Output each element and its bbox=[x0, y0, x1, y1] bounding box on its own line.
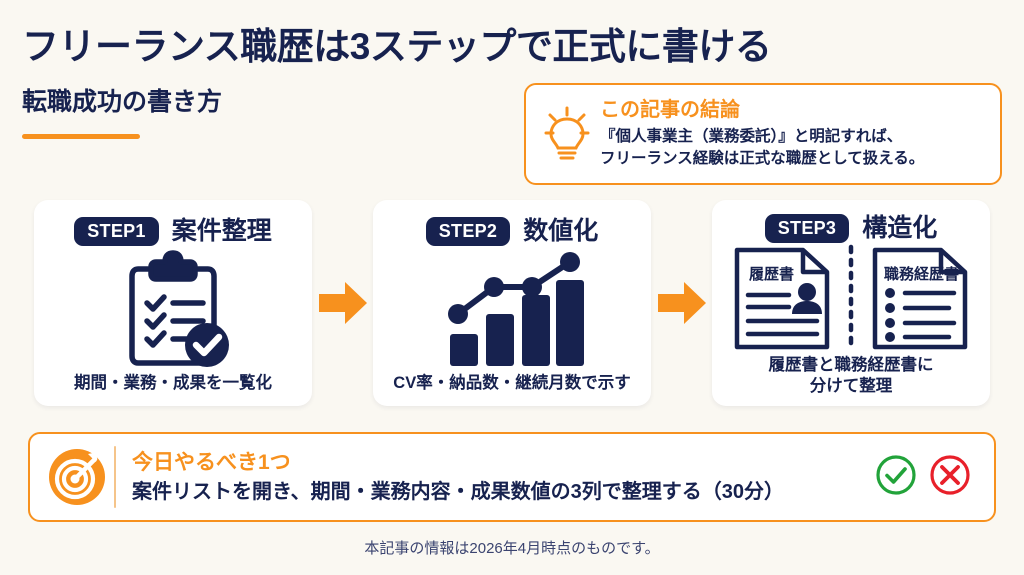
bar-chart-growth-icon bbox=[383, 248, 641, 373]
steps-row: STEP1 案件整理 bbox=[34, 200, 990, 406]
step-card-1: STEP1 案件整理 bbox=[34, 200, 312, 406]
resume-doc: 履歴書 bbox=[737, 250, 827, 347]
check-circle-icon bbox=[874, 453, 918, 502]
conclusion-text-block: この記事の結論 『個人事業主（業務委託）』と明記すれば、 フリーランス経験は正式… bbox=[596, 98, 990, 170]
step-title-3: 構造化 bbox=[862, 216, 937, 241]
step-card-3: STEP3 構造化 履歴書 bbox=[712, 200, 990, 406]
cta-bar: 今日やるべき1つ 案件リストを開き、期間・業務内容・成果数値の3列で整理する（3… bbox=[28, 432, 996, 522]
page-title: フリーランス職歴は3ステップで正式に書ける bbox=[22, 16, 771, 70]
footer-note: 本記事の情報は2026年4月時点のものです。 bbox=[0, 537, 1024, 558]
step-badge-2: STEP2 bbox=[426, 217, 511, 246]
cross-circle-icon bbox=[928, 453, 972, 502]
two-documents-icon: 履歴書 bbox=[722, 243, 980, 355]
lightbulb-icon bbox=[538, 104, 596, 164]
conclusion-box: この記事の結論 『個人事業主（業務委託）』と明記すれば、 フリーランス経験は正式… bbox=[524, 83, 1002, 185]
step-badge-3: STEP3 bbox=[765, 214, 850, 243]
step-card-2: STEP2 数値化 bbox=[373, 200, 651, 406]
cta-body: 案件リストを開き、期間・業務内容・成果数値の3列で整理する（30分） bbox=[132, 480, 874, 505]
target-dart-icon bbox=[46, 448, 108, 506]
cta-divider bbox=[114, 446, 116, 508]
conclusion-line-1: 『個人事業主（業務委託）』と明記すれば、 bbox=[600, 126, 990, 148]
cta-marks bbox=[874, 453, 976, 502]
page-subtitle: 転職成功の書き方 bbox=[22, 82, 222, 118]
work-history-doc: 職務経歴書 bbox=[875, 250, 965, 347]
infographic-page: フリーランス職歴は3ステップで正式に書ける 転職成功の書き方 この記事の結論 『… bbox=[0, 0, 1024, 575]
step-title-2: 数値化 bbox=[523, 219, 598, 244]
step-card-1-header: STEP1 案件整理 bbox=[74, 214, 272, 248]
arrow-right-icon bbox=[312, 200, 373, 406]
cta-heading: 今日やるべき1つ bbox=[132, 449, 874, 476]
cta-text-block: 今日やるべき1つ 案件リストを開き、期間・業務内容・成果数値の3列で整理する（3… bbox=[132, 449, 874, 505]
clipboard-checklist-icon bbox=[44, 248, 302, 373]
conclusion-line-2: フリーランス経験は正式な職歴として扱える。 bbox=[600, 148, 990, 170]
arrow-right-icon-2 bbox=[651, 200, 712, 406]
step-caption-3: 履歴書と職務経歴書に 分けて整理 bbox=[769, 355, 934, 398]
step-title-1: 案件整理 bbox=[172, 219, 272, 244]
step-caption-1: 期間・業務・成果を一覧化 bbox=[74, 373, 272, 396]
svg-text:職務経歴書: 職務経歴書 bbox=[884, 265, 959, 283]
step-caption-2: CV率・納品数・継続月数で示す bbox=[393, 373, 630, 396]
conclusion-heading: この記事の結論 bbox=[600, 98, 990, 123]
subtitle-underline bbox=[22, 134, 140, 139]
step-card-3-header: STEP3 構造化 bbox=[765, 214, 938, 243]
svg-text:履歴書: 履歴書 bbox=[748, 265, 794, 283]
step-badge-1: STEP1 bbox=[74, 217, 159, 246]
step-card-2-header: STEP2 数値化 bbox=[426, 214, 599, 248]
